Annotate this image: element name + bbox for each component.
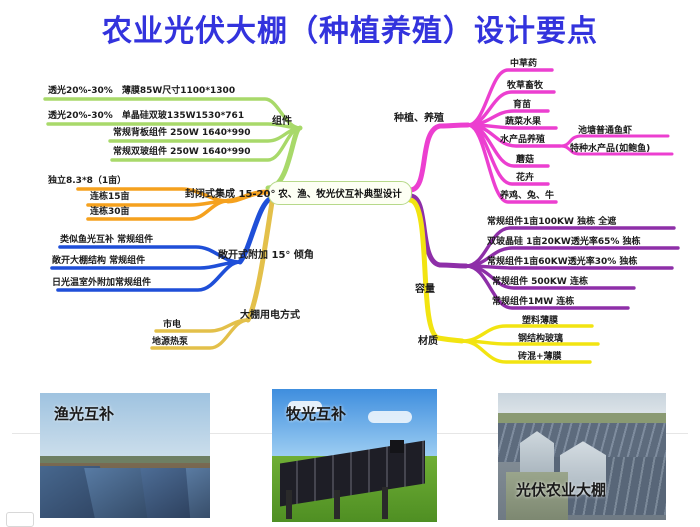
node-material-2[interactable]: 钢结构玻璃 bbox=[518, 334, 563, 345]
branch-label-open-attached[interactable]: 敞开式附加 15° 倾角 bbox=[218, 250, 314, 261]
photo-fish-solar[interactable]: 渔光互补 bbox=[40, 393, 210, 518]
node-material-3[interactable]: 砖混+薄膜 bbox=[518, 352, 562, 363]
node-planting-5[interactable]: 水产品养殖 bbox=[500, 135, 545, 146]
branch-label-capacity[interactable]: 容量 bbox=[415, 284, 435, 295]
photo-caption-2: 牧光互补 bbox=[286, 403, 346, 424]
node-planting-8[interactable]: 养鸡、兔、牛 bbox=[500, 191, 554, 202]
node-planting-2[interactable]: 牧草畜牧 bbox=[507, 81, 543, 92]
node-planting-4[interactable]: 蔬菜水果 bbox=[505, 117, 541, 128]
node-closed-2[interactable]: 连栋15亩 bbox=[90, 192, 130, 203]
node-capacity-1[interactable]: 常规组件1亩100KW 独栋 全遮 bbox=[487, 217, 616, 228]
node-aquatic-1[interactable]: 池塘普通鱼虾 bbox=[578, 126, 632, 137]
branch-label-power-mode[interactable]: 大棚用电方式 bbox=[240, 310, 300, 321]
branch-label-components[interactable]: 组件 bbox=[272, 116, 292, 127]
node-aquatic-2[interactable]: 特种水产品(如鲍鱼) bbox=[570, 144, 650, 155]
node-open-2[interactable]: 敞开大棚结构 常规组件 bbox=[52, 256, 145, 267]
node-capacity-5[interactable]: 常规组件1MW 连栋 bbox=[492, 297, 574, 308]
photo-pv-greenhouse[interactable]: 光伏农业大棚 bbox=[498, 393, 666, 520]
node-capacity-4[interactable]: 常规组件 500KW 连栋 bbox=[492, 277, 588, 288]
node-material-1[interactable]: 塑料薄膜 bbox=[522, 316, 558, 327]
node-closed-1[interactable]: 独立8.3*8（1亩） bbox=[48, 176, 126, 187]
page-title: 农业光伏大棚（种植养殖）设计要点 bbox=[0, 6, 700, 50]
photo-caption-3: 光伏农业大棚 bbox=[516, 479, 606, 500]
node-components-1[interactable]: 透光20%-30% 薄膜85W尺寸1100*1300 bbox=[48, 86, 235, 97]
node-capacity-2[interactable]: 双玻晶硅 1亩20KW透光率65% 独栋 bbox=[487, 237, 641, 248]
node-power-2[interactable]: 地源热泵 bbox=[152, 337, 188, 348]
node-capacity-3[interactable]: 常规组件1亩60KW透光率30% 独栋 bbox=[487, 257, 637, 268]
slide-canvas: 农业光伏大棚（种植养殖）设计要点 bbox=[0, 0, 700, 525]
branch-label-material[interactable]: 材质 bbox=[418, 336, 438, 347]
photo-gallery: 渔光互补 牧光互补 光伏农业大棚 bbox=[0, 385, 700, 520]
node-components-4[interactable]: 常规双玻组件 250W 1640*990 bbox=[113, 147, 251, 158]
node-planting-7[interactable]: 花卉 bbox=[516, 173, 534, 184]
branch-label-planting-breeding[interactable]: 种植、养殖 bbox=[394, 113, 444, 124]
node-planting-3[interactable]: 育苗 bbox=[513, 100, 531, 111]
node-open-1[interactable]: 类似鱼光互补 常规组件 bbox=[60, 235, 153, 246]
branch-label-closed-integrated[interactable]: 封闭式集成 15-20° bbox=[185, 189, 275, 200]
node-power-1[interactable]: 市电 bbox=[163, 320, 181, 331]
mindmap-center-node[interactable]: 农、渔、牧光伏互补典型设计 bbox=[268, 181, 412, 205]
node-planting-1[interactable]: 中草药 bbox=[510, 59, 537, 70]
photo-caption-1: 渔光互补 bbox=[54, 403, 114, 424]
node-closed-3[interactable]: 连栋30亩 bbox=[90, 207, 130, 218]
photo-pasture-solar[interactable]: 牧光互补 bbox=[272, 389, 437, 522]
node-components-3[interactable]: 常规背板组件 250W 1640*990 bbox=[113, 128, 251, 139]
node-components-2[interactable]: 透光20%-30% 单晶硅双玻135W1530*761 bbox=[48, 111, 244, 122]
node-planting-6[interactable]: 蘑菇 bbox=[516, 155, 534, 166]
node-open-3[interactable]: 日光温室外附加常规组件 bbox=[52, 278, 151, 289]
